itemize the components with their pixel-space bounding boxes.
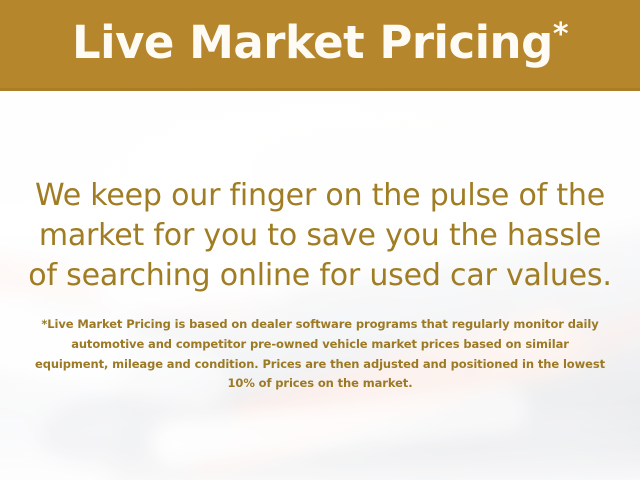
header-banner: Live Market Pricing*: [0, 0, 640, 91]
page-title-text: Live Market Pricing: [72, 16, 553, 69]
content-area: We keep our finger on the pulse of the m…: [0, 91, 640, 480]
title-asterisk: *: [553, 17, 568, 52]
page-title: Live Market Pricing*: [72, 20, 568, 69]
live-market-pricing-slide: Live Market Pricing* We keep our finger …: [0, 0, 640, 480]
headline-text: We keep our finger on the pulse of the m…: [26, 176, 614, 296]
footnote-disclaimer: *Live Market Pricing is based on dealer …: [34, 315, 606, 394]
